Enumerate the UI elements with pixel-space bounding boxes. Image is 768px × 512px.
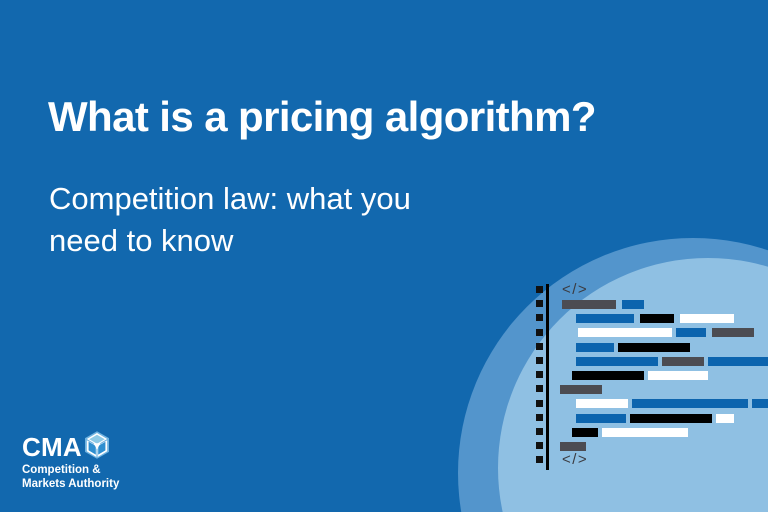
subtitle-line-2: need to know [49,220,519,262]
code-segment-white [680,314,734,323]
code-line-bullet [536,300,543,307]
code-line-bullet [536,329,543,336]
cma-hexagon-mark-icon [82,430,112,460]
code-line-bullet [536,385,543,392]
code-segment-gray [560,385,602,394]
code-segment-blue [576,414,626,423]
code-open-tag-icon: </> [562,282,588,297]
cma-fullname: Competition & Markets Authority [22,463,119,492]
code-segment-blue [632,399,748,408]
code-line-bullet [536,286,543,293]
code-segment-blue [576,357,658,366]
code-line-bullet [536,343,543,350]
subtitle-line-1: Competition law: what you [49,178,519,220]
code-line-bullet [536,314,543,321]
page-title: What is a pricing algorithm? [48,94,728,140]
code-segment-blue [752,399,768,408]
code-segment-black [572,428,598,437]
code-segment-gray [662,357,704,366]
code-line-bullet [536,357,543,364]
code-segment-blue [622,300,644,309]
code-segment-black [630,414,712,423]
cma-fullname-line-2: Markets Authority [22,477,119,491]
code-line-bullet [536,400,543,407]
cma-logo: CMA Competition & Markets Authority [22,434,152,492]
cma-fullname-line-1: Competition & [22,463,119,477]
code-segment-white [576,399,628,408]
promo-card: </> </> What is a pricing algorithm? Com… [0,0,768,512]
cma-wordmark: CMA [22,434,82,460]
code-segment-blue [676,328,706,337]
code-line-bullet [536,456,543,463]
code-line-bullet [536,414,543,421]
code-segment-black [618,343,690,352]
code-segment-gray [560,442,586,451]
code-segment-blue [576,343,614,352]
code-illustration: </> </> [536,282,768,478]
code-segment-white [648,371,708,380]
code-segment-white [578,328,672,337]
code-gutter-line [546,284,549,470]
code-segment-blue [576,314,634,323]
code-segment-black [572,371,644,380]
code-segment-white [716,414,734,423]
code-line-bullet [536,428,543,435]
code-segment-gray [562,300,616,309]
code-line-bullet [536,371,543,378]
page-subtitle: Competition law: what you need to know [49,178,519,262]
code-line-bullet [536,442,543,449]
code-segment-gray [712,328,754,337]
code-close-tag-icon: </> [562,452,588,467]
code-segment-blue [708,357,768,366]
code-segment-black [640,314,674,323]
code-segment-white [602,428,688,437]
